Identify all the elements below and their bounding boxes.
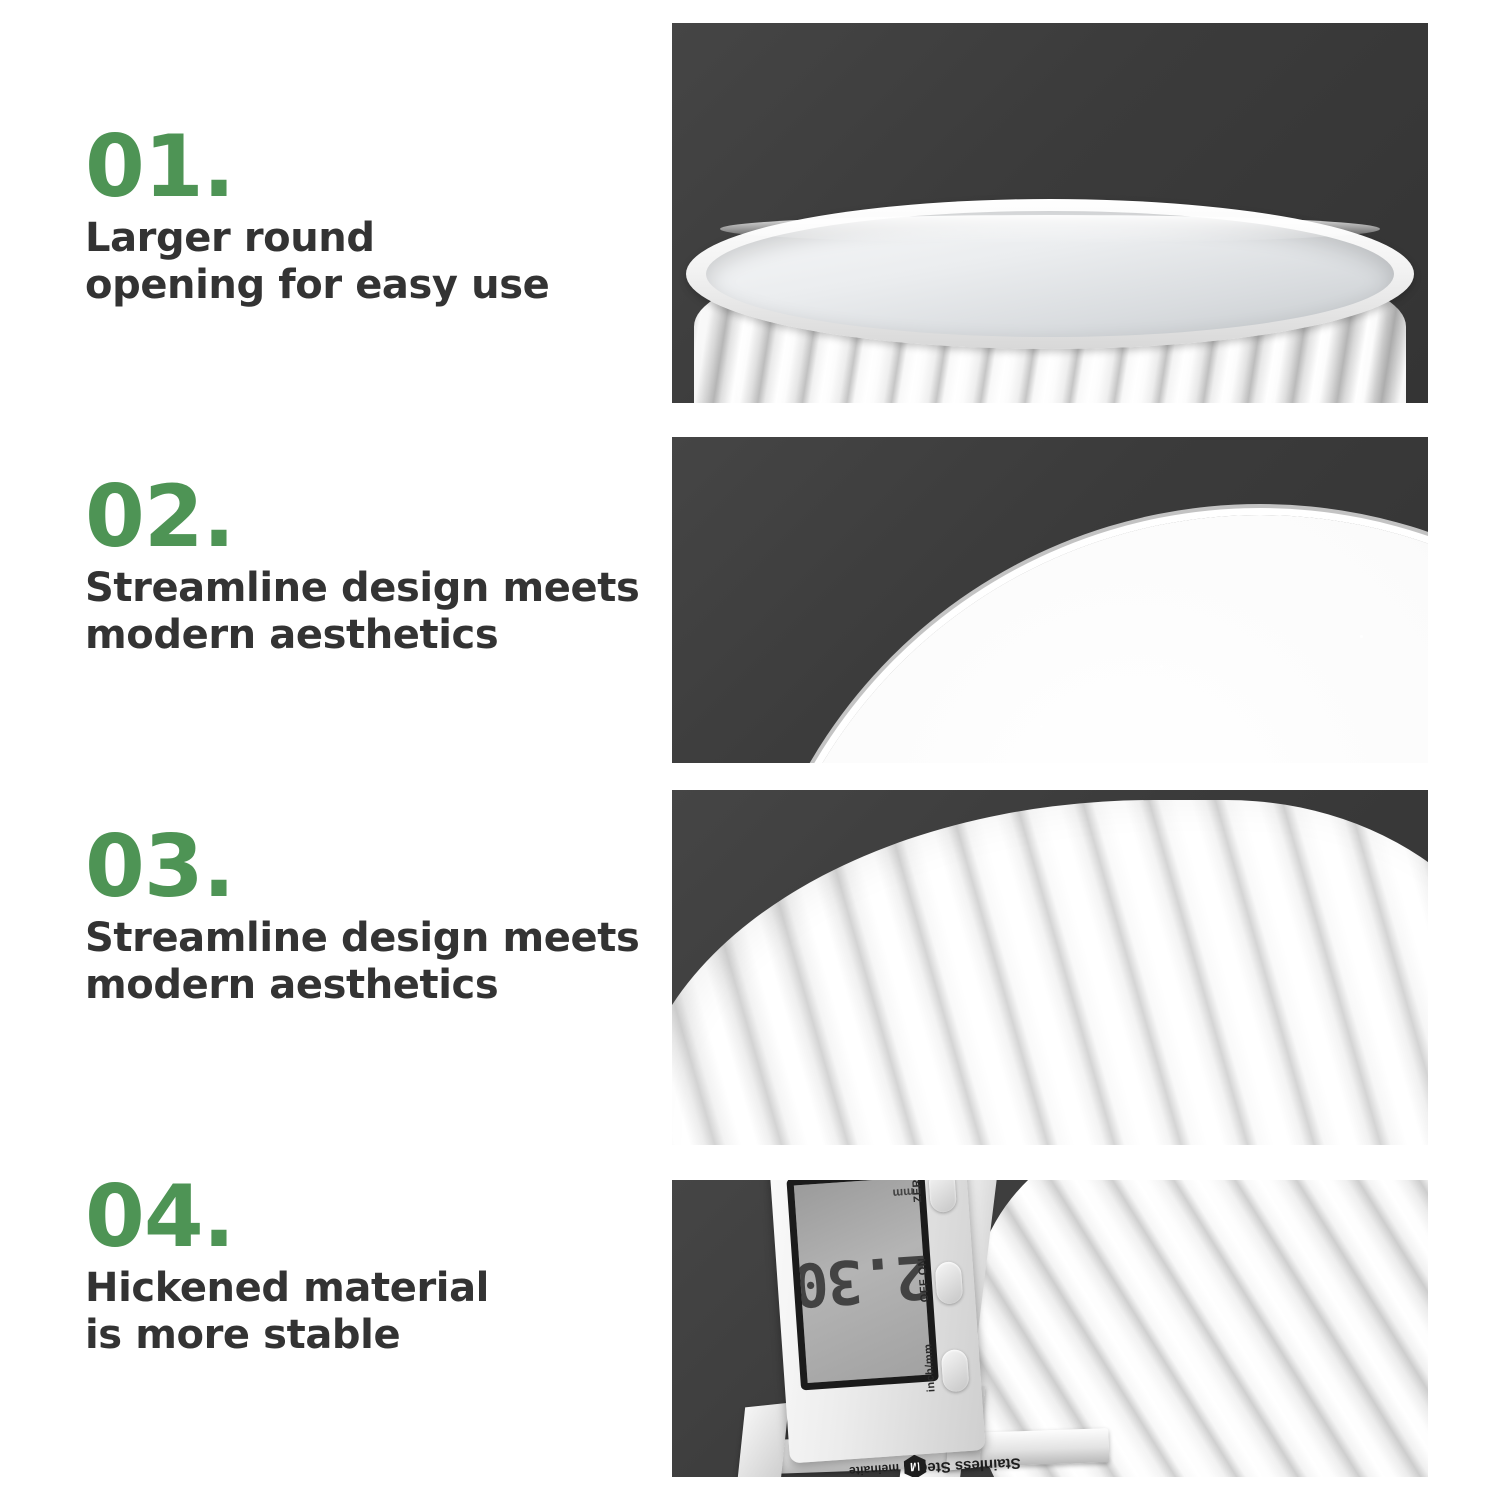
caliper-power-button[interactable] (935, 1261, 964, 1305)
trash-can-top-view (686, 199, 1414, 403)
feature-number-04: 04. (85, 1178, 665, 1257)
caliper-zero-button[interactable] (928, 1180, 957, 1213)
feature-text-03: Streamline design meets modern aesthetic… (85, 915, 665, 1009)
feature-image-02 (672, 437, 1428, 763)
surface-speck (1040, 725, 1043, 728)
caliper-lcd-display: 2.30 mm (786, 1180, 938, 1390)
caliper-fixed-jaw (737, 1403, 789, 1477)
caliper-zero-label: ZERO (910, 1180, 924, 1203)
rim-highlight (720, 215, 1380, 243)
feature-block-04: 04. Hickened material is more stable (85, 1178, 665, 1359)
caliper-unit-button[interactable] (941, 1349, 970, 1393)
feature-number-03: 03. (85, 828, 665, 907)
feature-image-03 (672, 790, 1428, 1145)
surface-speck (1160, 665, 1163, 668)
product-feature-infographic: 01. Larger round opening for easy use 02… (0, 0, 1500, 1500)
surface-speck (1360, 635, 1363, 638)
feature-number-01: 01. (85, 128, 665, 207)
digital-caliper: 2.30 mm ZERO OFF ON inch/mm M meinaite S… (726, 1180, 1089, 1477)
feature-text-02: Streamline design meets modern aesthetic… (85, 565, 665, 659)
feature-image-01 (672, 23, 1428, 403)
feature-text-04: Hickened material is more stable (85, 1265, 665, 1359)
feature-block-02: 02. Streamline design meets modern aesth… (85, 478, 665, 659)
feature-image-04: 2.30 mm ZERO OFF ON inch/mm M meinaite S… (672, 1180, 1428, 1477)
feature-text-01: Larger round opening for easy use (85, 215, 665, 309)
feature-block-03: 03. Streamline design meets modern aesth… (85, 828, 665, 1009)
feature-text-column: 01. Larger round opening for easy use 02… (0, 0, 672, 1500)
feature-block-01: 01. Larger round opening for easy use (85, 128, 665, 309)
caliper-head: 2.30 mm ZERO OFF ON inch/mm M meinaite S… (769, 1180, 985, 1463)
caliper-reading: 2.30 (792, 1240, 933, 1319)
brand-name: meinaite (848, 1461, 899, 1477)
feature-number-02: 02. (85, 478, 665, 557)
